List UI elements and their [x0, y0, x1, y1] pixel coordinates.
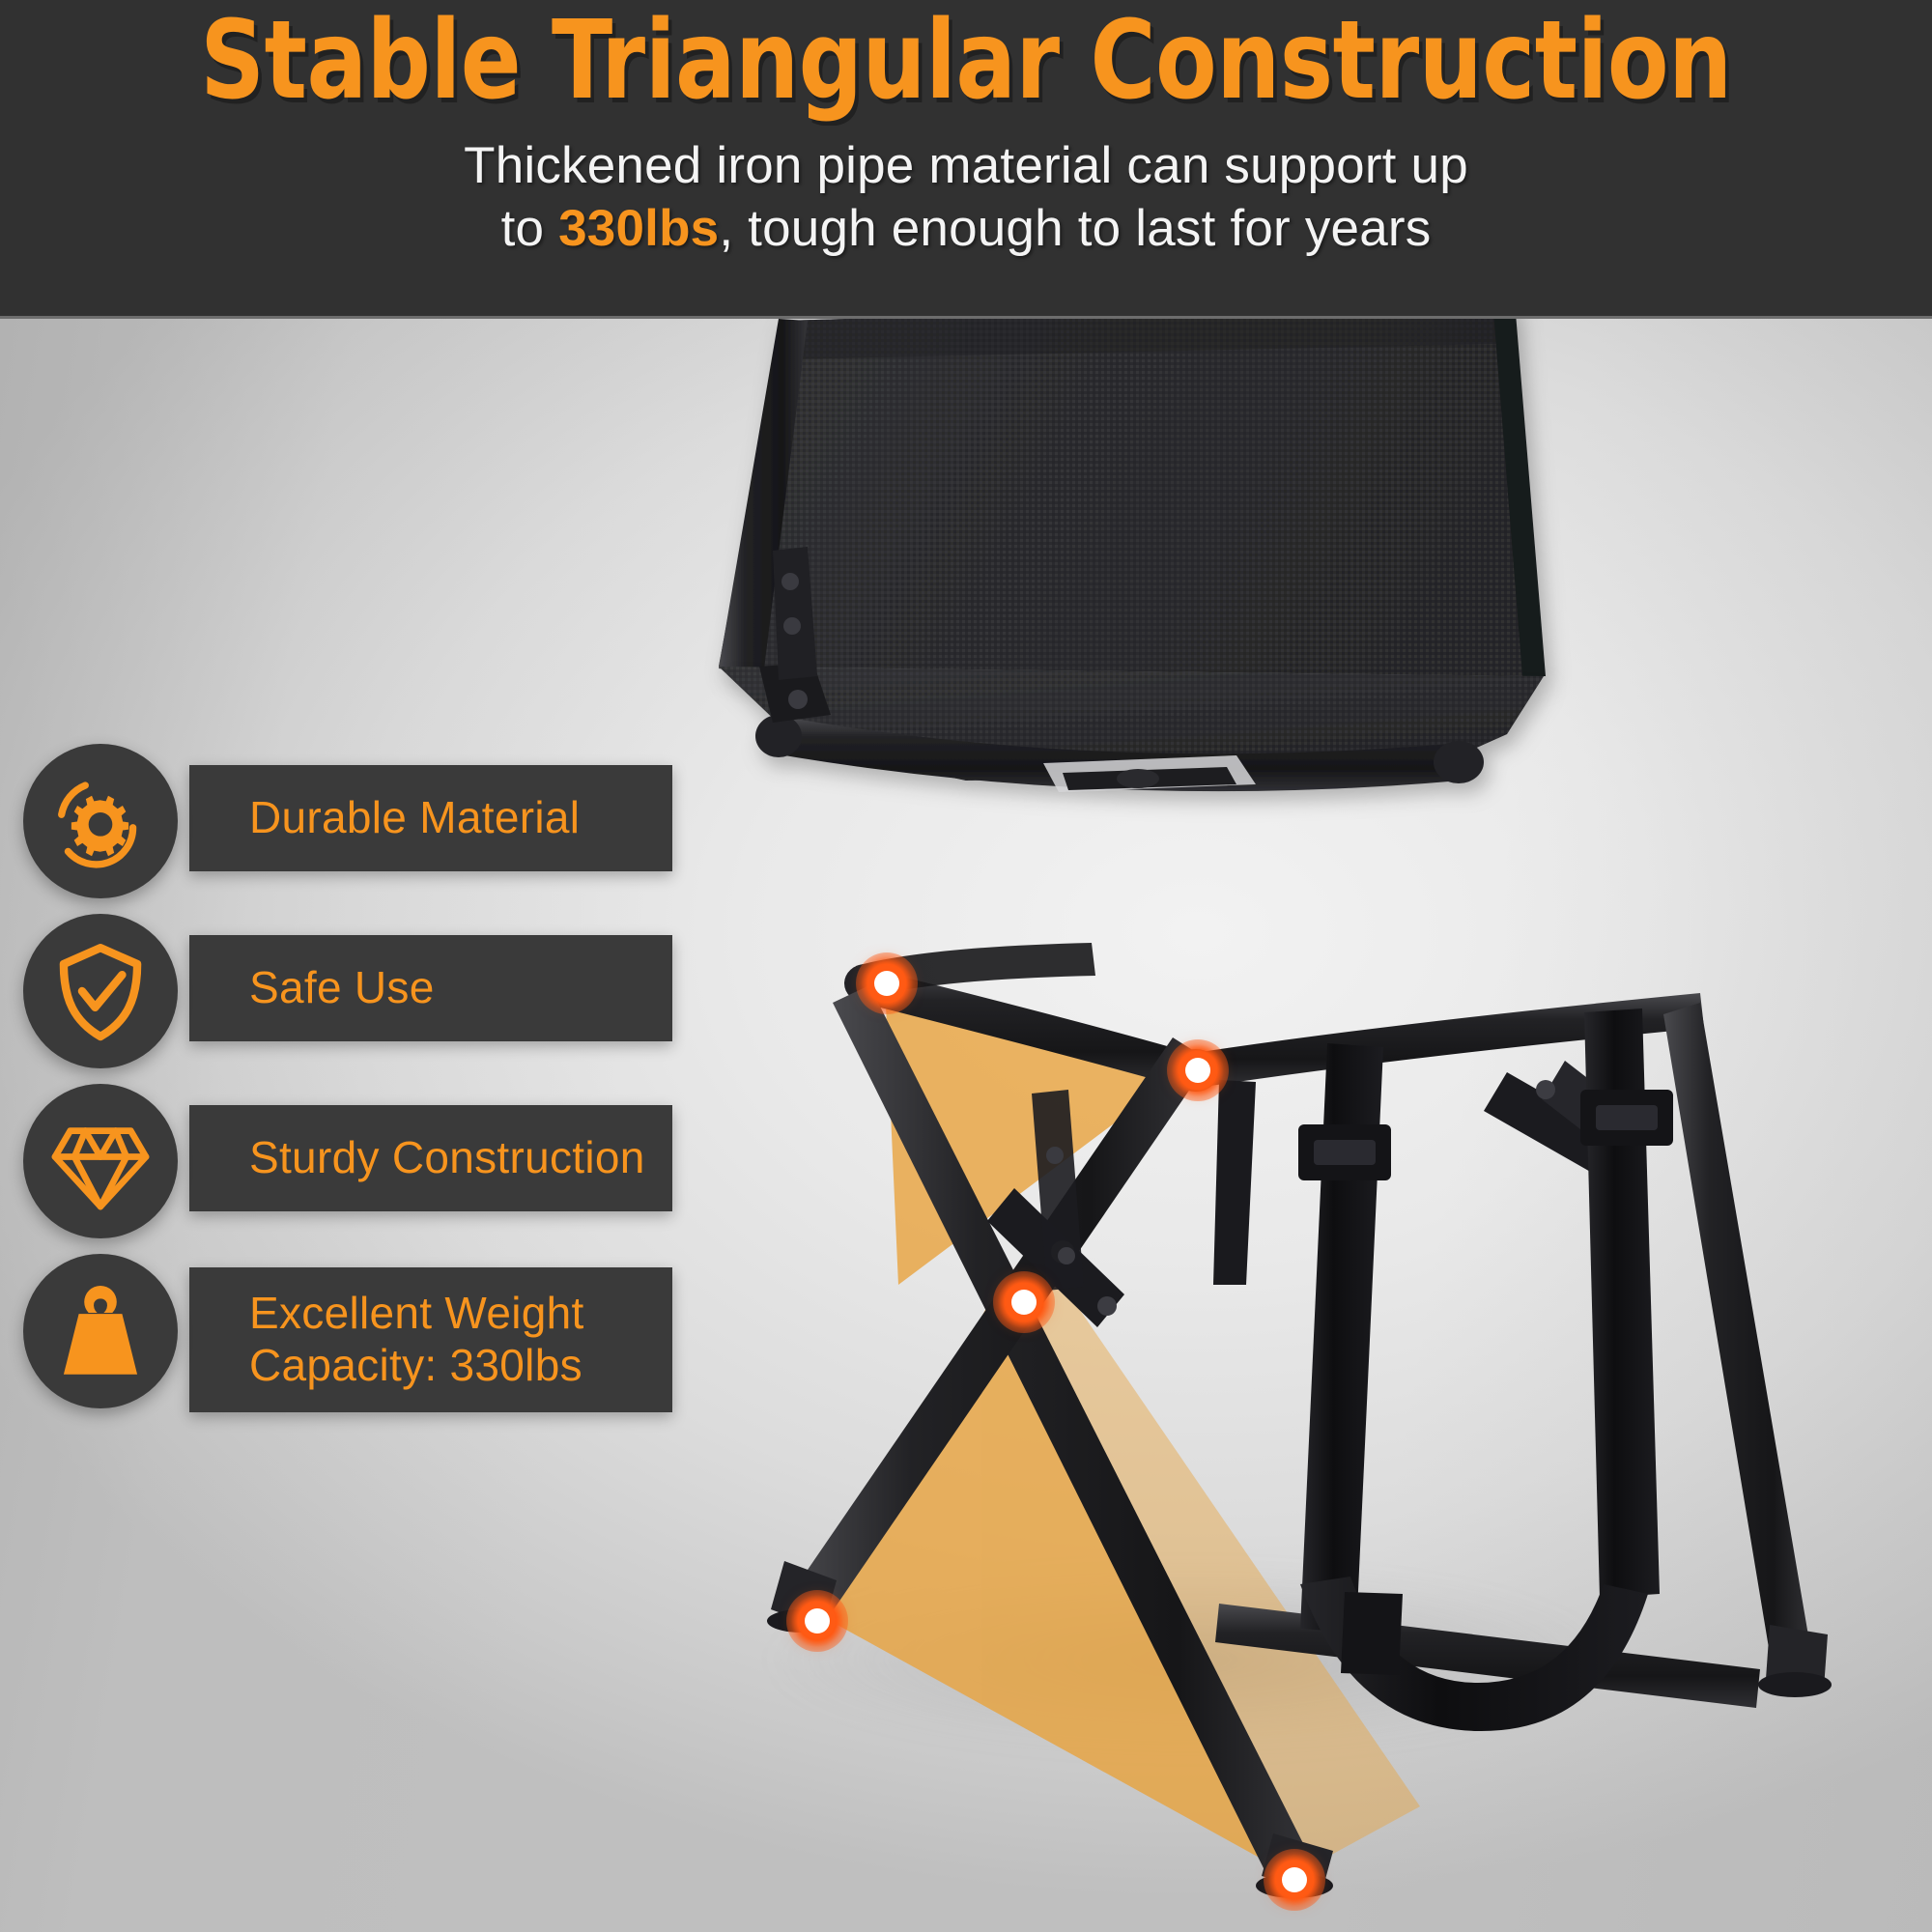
- feature-item-durable-material: Durable Material: [0, 744, 792, 916]
- feature-label-bar: Durable Material: [189, 765, 672, 871]
- feature-list: Durable Material Safe Use: [0, 744, 792, 1460]
- feature-item-sturdy-construction: Sturdy Construction: [0, 1084, 792, 1256]
- highlight-marker-bottom-right: [1264, 1849, 1325, 1911]
- shield-check-icon: [23, 914, 178, 1068]
- chair-backrest: [719, 299, 1546, 676]
- highlight-marker-top-left: [856, 952, 918, 1014]
- feature-label: Safe Use: [249, 962, 435, 1014]
- feature-label: Durable Material: [249, 792, 580, 844]
- subtitle-line-2-prefix: to: [501, 200, 559, 257]
- page-title: Stable Triangular Construction: [77, 6, 1855, 116]
- feature-item-safe-use: Safe Use: [0, 914, 792, 1086]
- highlight-marker-top-right: [1167, 1039, 1229, 1101]
- highlight-marker-bottom-left: [786, 1590, 848, 1652]
- feature-item-weight-capacity: Excellent Weight Capacity: 330lbs: [0, 1254, 792, 1462]
- chair-foot-cap: [1758, 1625, 1832, 1697]
- subtitle-line-2-suffix: , tough enough to last for years: [719, 200, 1431, 257]
- marketing-image: Stable Triangular Construction Thickened…: [0, 0, 1932, 1932]
- weight-capacity-highlight: 330lbs: [558, 200, 719, 257]
- weight-icon: [23, 1254, 178, 1408]
- feature-label-bar: Excellent Weight Capacity: 330lbs: [189, 1267, 672, 1412]
- highlight-marker-center-cross: [993, 1271, 1055, 1333]
- header-banner: Stable Triangular Construction Thickened…: [0, 0, 1932, 319]
- page-subtitle: Thickened iron pipe material can support…: [0, 135, 1932, 260]
- feature-label-bar: Sturdy Construction: [189, 1105, 672, 1211]
- diamond-icon: [23, 1084, 178, 1238]
- feature-label: Sturdy Construction: [249, 1132, 645, 1184]
- gear-icon: [23, 744, 178, 898]
- feature-label: Excellent Weight Capacity: 330lbs: [249, 1288, 584, 1392]
- feature-label-bar: Safe Use: [189, 935, 672, 1041]
- subtitle-line-1: Thickened iron pipe material can support…: [464, 137, 1468, 194]
